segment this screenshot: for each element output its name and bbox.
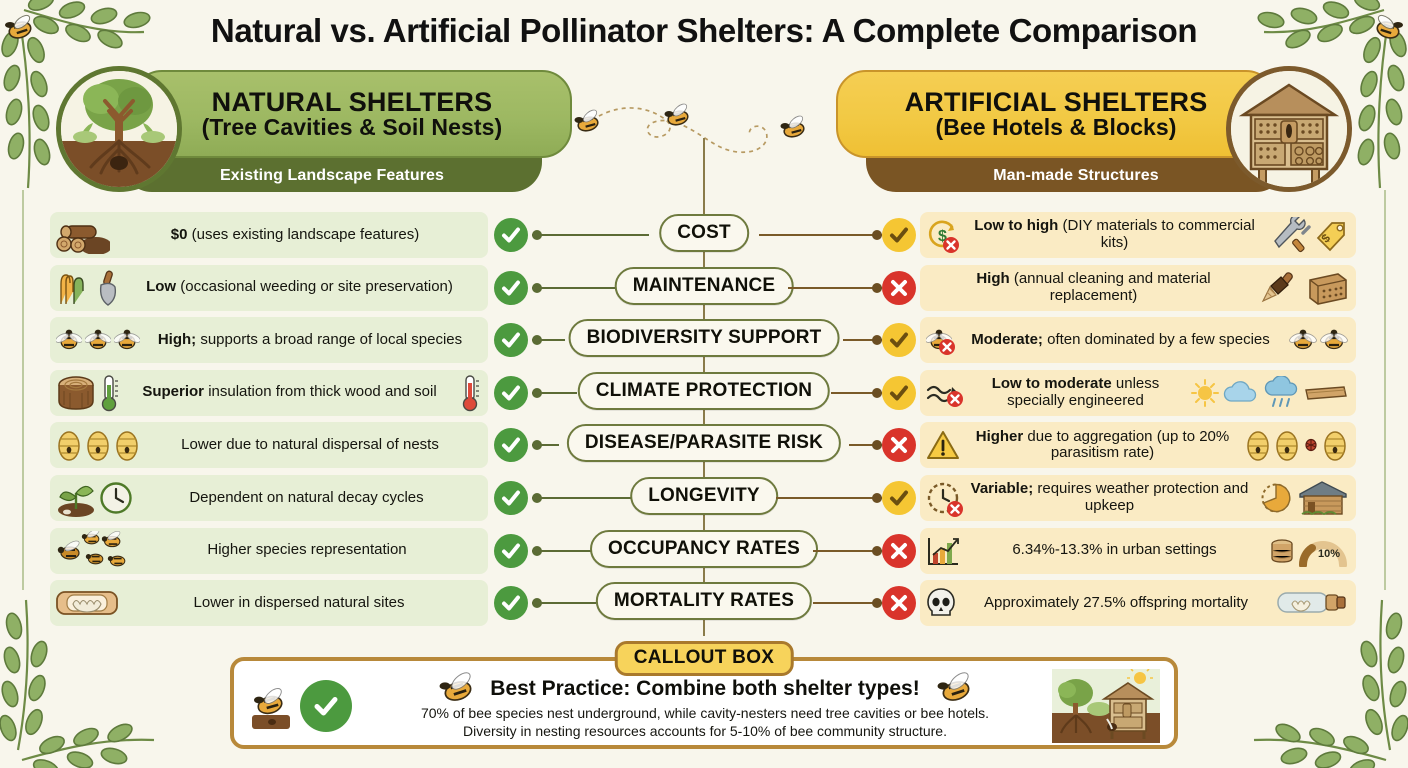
- artificial-value-text: Higher due to aggregation (up to 20% par…: [960, 429, 1245, 463]
- wood-plank-icon: [1304, 384, 1348, 402]
- natural-cell: Lower in dispersed natural sites: [50, 580, 488, 626]
- mite-icon: [1303, 437, 1319, 453]
- natural-value-text: Superior insulation from thick wood and …: [119, 384, 460, 401]
- natural-status-badge: [494, 271, 528, 305]
- natural-lead-icons: [50, 216, 110, 254]
- connector-line-left: [532, 392, 577, 394]
- flying-bees-decoration: [570, 96, 840, 166]
- connector-dot-right: [872, 546, 882, 556]
- natural-value-text: $0 (uses existing landscape features): [110, 227, 480, 244]
- small-cross-badge-icon: [942, 236, 960, 254]
- callout-headline: Best Practice: Combine both shelter type…: [490, 677, 919, 700]
- connector-dot-right: [872, 335, 882, 345]
- cloud-icon: [1222, 380, 1260, 406]
- artificial-status-badge: [882, 481, 916, 515]
- artificial-trail-icons: [1245, 429, 1356, 461]
- connector-line-right: [788, 287, 882, 289]
- ground-bee-icon: [248, 679, 294, 733]
- artificial-cell: $Low to high (DIY materials to commercia…: [920, 212, 1356, 258]
- artificial-status-badge: [882, 271, 916, 305]
- artificial-lead-icons: [920, 381, 960, 405]
- connector-dot-right: [872, 230, 882, 240]
- comparison-row: Lower in dispersed natural sitesMORTALIT…: [0, 580, 1408, 626]
- artificial-lead-icons: [920, 327, 952, 353]
- connector-dot-right: [872, 598, 882, 608]
- natural-lead-icons: [50, 531, 134, 571]
- thermometer-hot-icon: [460, 373, 480, 413]
- bee-icon: [930, 671, 978, 705]
- artificial-status-badge: [882, 218, 916, 252]
- natural-status-badge: [494, 534, 528, 568]
- criterion-label: OCCUPANCY RATES: [590, 530, 818, 568]
- bee-icon: [56, 327, 82, 353]
- seedling-icon: [56, 479, 96, 517]
- tree-with-roots-icon: [56, 66, 182, 192]
- bee-icon: [85, 327, 111, 353]
- artificial-value-text: Low to high (DIY materials to commercial…: [956, 218, 1273, 252]
- natural-lead-icons: [50, 479, 133, 517]
- connector-line-left: [532, 550, 596, 552]
- comparison-row: Low (occasional weeding or site preserva…: [0, 265, 1408, 311]
- page-title: Natural vs. Artificial Pollinator Shelte…: [0, 12, 1408, 50]
- natural-cell: Low (occasional weeding or site preserva…: [50, 265, 488, 311]
- criterion-label: MORTALITY RATES: [596, 582, 812, 620]
- small-cross-badge-icon: [946, 390, 964, 408]
- artificial-trail-icons: [1276, 589, 1356, 617]
- price-tag-icon: $: [1314, 218, 1348, 252]
- callout-badge: CALLOUT BOX: [615, 641, 794, 676]
- comparison-row: Lower due to natural dispersal of nestsD…: [0, 422, 1408, 468]
- natural-value-text: Higher species representation: [134, 542, 480, 559]
- pie-timer-icon: [1259, 481, 1293, 515]
- artificial-title: ARTIFICIAL SHELTERS: [905, 88, 1208, 116]
- warning-triangle-icon: [926, 429, 960, 461]
- clock-icon: [99, 481, 133, 515]
- natural-status-badge: [494, 481, 528, 515]
- rain-cloud-icon: [1263, 376, 1301, 410]
- gardening-gloves-icon: [56, 270, 90, 306]
- natural-lead-icons: [50, 373, 119, 413]
- artificial-status-badge: [882, 323, 916, 357]
- comparison-row: Dependent on natural decay cyclesLONGEVI…: [0, 475, 1408, 521]
- artificial-status-badge: [882, 586, 916, 620]
- natural-lead-icons: [50, 327, 140, 353]
- criterion-label: COST: [659, 214, 749, 252]
- connector-line-left: [532, 497, 632, 499]
- natural-cell: Dependent on natural decay cycles: [50, 475, 488, 521]
- bee-swarm-icon: [56, 531, 134, 571]
- comparison-row: High; supports a broad range of local sp…: [0, 317, 1408, 363]
- tree-and-bee-hotel-icon: [1052, 669, 1160, 743]
- sun-icon: [1191, 379, 1219, 407]
- natural-value-text: High; supports a broad range of local sp…: [140, 332, 480, 349]
- natural-cell: Superior insulation from thick wood and …: [50, 370, 488, 416]
- connector-line-right: [776, 497, 882, 499]
- beehive-icon: [1245, 429, 1271, 461]
- artificial-value-text: Moderate; often dominated by a few speci…: [952, 332, 1289, 349]
- beehive-icon: [1322, 429, 1348, 461]
- artificial-lead-icons: [920, 587, 956, 619]
- larva-vial-icon: [1276, 589, 1348, 617]
- comparison-row: $0 (uses existing landscape features)COS…: [0, 212, 1408, 258]
- bee-icon: [1289, 327, 1317, 353]
- thermometer-cold-icon: [99, 373, 119, 413]
- bar-chart-icon: [926, 535, 960, 567]
- beehive-icon: [1274, 429, 1300, 461]
- bee-icon: [1320, 327, 1348, 353]
- connector-line-left: [532, 444, 559, 446]
- natural-cell: High; supports a broad range of local sp…: [50, 317, 488, 363]
- connector-dot-right: [872, 388, 882, 398]
- artificial-cell: Moderate; often dominated by a few speci…: [920, 317, 1356, 363]
- artificial-trail-icons: [1289, 327, 1356, 353]
- connector-dot-right: [872, 283, 882, 293]
- artificial-lead-icons: $: [920, 219, 956, 251]
- bee-hotel-icon: [1226, 66, 1352, 192]
- natural-title: NATURAL SHELTERS: [212, 88, 493, 116]
- comparison-row: Higher species representationOCCUPANCY R…: [0, 528, 1408, 574]
- artificial-value-text: Variable; requires weather protection an…: [960, 481, 1259, 515]
- connector-line-left: [532, 339, 565, 341]
- natural-trail-icons: [460, 373, 488, 413]
- artificial-cell: 6.34%-13.3% in urban settings10%: [920, 528, 1356, 574]
- artificial-value-text: Approximately 27.5% offspring mortality: [956, 595, 1276, 612]
- skull-icon: [926, 587, 956, 619]
- artificial-lead-icons: [920, 481, 960, 515]
- artificial-cell: Variable; requires weather protection an…: [920, 475, 1356, 521]
- artificial-trail-icons: $: [1273, 217, 1356, 253]
- nest-block-icon: [1269, 536, 1295, 566]
- artificial-lead-icons: [920, 429, 960, 461]
- artificial-title-plate: ARTIFICIAL SHELTERS (Bee Hotels & Blocks…: [836, 70, 1276, 158]
- natural-title-plate: NATURAL SHELTERS (Tree Cavities & Soil N…: [132, 70, 572, 158]
- wooden-shed-icon: [1296, 480, 1348, 516]
- artificial-trail-icons: [1191, 376, 1356, 410]
- natural-cell: Lower due to natural dispersal of nests: [50, 422, 488, 468]
- comparison-row: Superior insulation from thick wood and …: [0, 370, 1408, 416]
- beehive-icon: [85, 429, 111, 461]
- connector-dot-right: [872, 493, 882, 503]
- natural-subtitle: (Tree Cavities & Soil Nests): [202, 116, 503, 140]
- callout-line-2: Diversity in nesting resources accounts …: [362, 723, 1048, 741]
- criterion-label: MAINTENANCE: [615, 267, 794, 305]
- natural-value-text: Lower due to natural dispersal of nests: [140, 437, 480, 454]
- natural-cell: $0 (uses existing landscape features): [50, 212, 488, 258]
- beehive-icon: [114, 429, 140, 461]
- artificial-subtitle: (Bee Hotels & Blocks): [935, 116, 1176, 140]
- criterion-label: BIODIVERSITY SUPPORT: [569, 319, 840, 357]
- artificial-status-badge: [882, 534, 916, 568]
- log-pile-icon: [56, 216, 110, 254]
- infographic-canvas: Natural vs. Artificial Pollinator Shelte…: [0, 0, 1408, 768]
- criterion-label: DISEASE/PARASITE RISK: [567, 424, 841, 462]
- tree-stump-icon: [56, 373, 96, 413]
- trowel-icon: [93, 269, 119, 307]
- natural-lead-icons: [50, 429, 140, 461]
- artificial-cell: Approximately 27.5% offspring mortality: [920, 580, 1356, 626]
- paintbrush-icon: [1261, 270, 1301, 306]
- natural-cell: Higher species representation: [50, 528, 488, 574]
- gauge-label: 10%: [1318, 548, 1340, 560]
- artificial-status-badge: [882, 376, 916, 410]
- connector-line-left: [532, 287, 620, 289]
- natural-status-badge: [494, 376, 528, 410]
- connector-line-right: [759, 234, 882, 236]
- small-cross-badge-icon: [946, 500, 964, 518]
- artificial-cell: Higher due to aggregation (up to 20% par…: [920, 422, 1356, 468]
- artificial-value-text: High (annual cleaning and material repla…: [926, 271, 1261, 305]
- connector-line-left: [532, 602, 596, 604]
- natural-lead-icons: [50, 269, 119, 307]
- natural-status-badge: [494, 428, 528, 462]
- connector-line-left: [532, 234, 649, 236]
- artificial-status-badge: [882, 428, 916, 462]
- larva-in-tunnel-icon: [56, 586, 118, 620]
- natural-status-badge: [494, 218, 528, 252]
- artificial-lead-icons: [920, 535, 960, 567]
- artificial-value-text: 6.34%-13.3% in urban settings: [960, 542, 1269, 559]
- natural-value-text: Low (occasional weeding or site preserva…: [119, 279, 480, 296]
- bee-icon: [432, 671, 480, 705]
- bee-icon: [114, 327, 140, 353]
- wrench-screwdriver-icon: [1273, 217, 1311, 253]
- wood-block-icon: [1304, 270, 1348, 306]
- natural-value-text: Dependent on natural decay cycles: [133, 490, 480, 507]
- natural-lead-icons: [50, 586, 118, 620]
- beehive-icon: [56, 429, 82, 461]
- artificial-cell: Low to moderate unless specially enginee…: [920, 370, 1356, 416]
- artificial-trail-icons: [1261, 270, 1356, 306]
- header-artificial-shelters: Man-made Structures ARTIFICIAL SHELTERS …: [836, 70, 1356, 192]
- natural-value-text: Lower in dispersed natural sites: [118, 595, 480, 612]
- artificial-value-text: Low to moderate unless specially enginee…: [960, 376, 1191, 410]
- criterion-label: LONGEVITY: [630, 477, 778, 515]
- artificial-trail-icons: 10%: [1269, 535, 1356, 567]
- header-natural-shelters: Existing Landscape Features NATURAL SHEL…: [52, 70, 572, 192]
- natural-status-badge: [494, 323, 528, 357]
- check-circle-icon: [300, 680, 352, 732]
- artificial-cell: High (annual cleaning and material repla…: [920, 265, 1356, 311]
- artificial-trail-icons: [1259, 480, 1356, 516]
- connector-dot-right: [872, 440, 882, 450]
- natural-status-badge: [494, 586, 528, 620]
- small-cross-badge-icon: [938, 338, 956, 356]
- callout-line-1: 70% of bee species nest underground, whi…: [362, 705, 1048, 723]
- criterion-label: CLIMATE PROTECTION: [578, 372, 830, 410]
